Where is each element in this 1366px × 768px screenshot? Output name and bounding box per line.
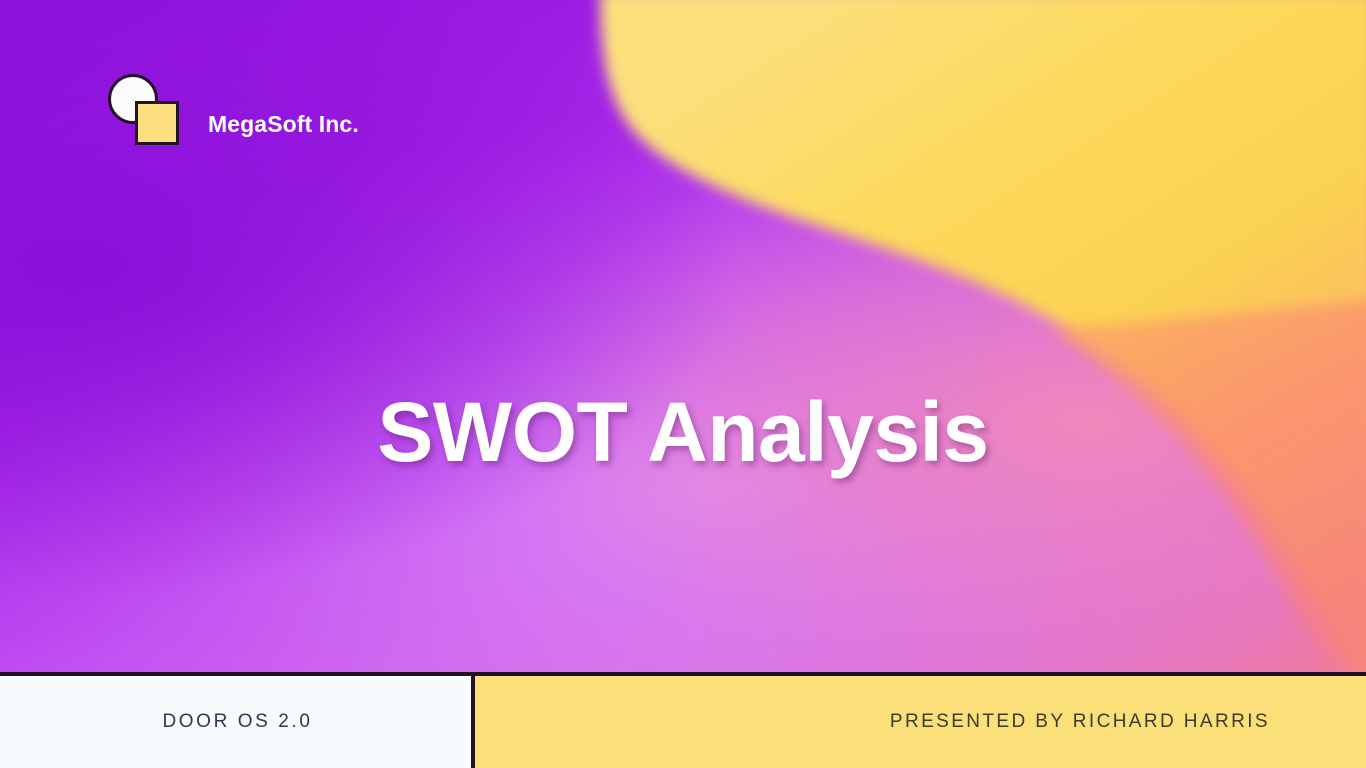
brand-logo-lockup[interactable]: MegaSoft Inc. [104, 68, 359, 148]
product-version-label: DOOR OS 2.0 [158, 711, 312, 733]
slide-footer: DOOR OS 2.0 PRESENTED BY RICHARD HARRIS [0, 672, 1366, 768]
slide-canvas: MegaSoft Inc. SWOT Analysis DOOR OS 2.0 … [0, 0, 1366, 768]
logo-mark [104, 69, 182, 147]
title-container: SWOT Analysis [0, 330, 1366, 535]
footer-right-panel: PRESENTED BY RICHARD HARRIS [475, 676, 1366, 768]
page-title: SWOT Analysis [377, 386, 988, 478]
presenter-label: PRESENTED BY RICHARD HARRIS [890, 711, 1270, 733]
brand-name: MegaSoft Inc. [208, 81, 359, 136]
square-icon [135, 101, 179, 145]
footer-left-panel: DOOR OS 2.0 [0, 676, 475, 768]
